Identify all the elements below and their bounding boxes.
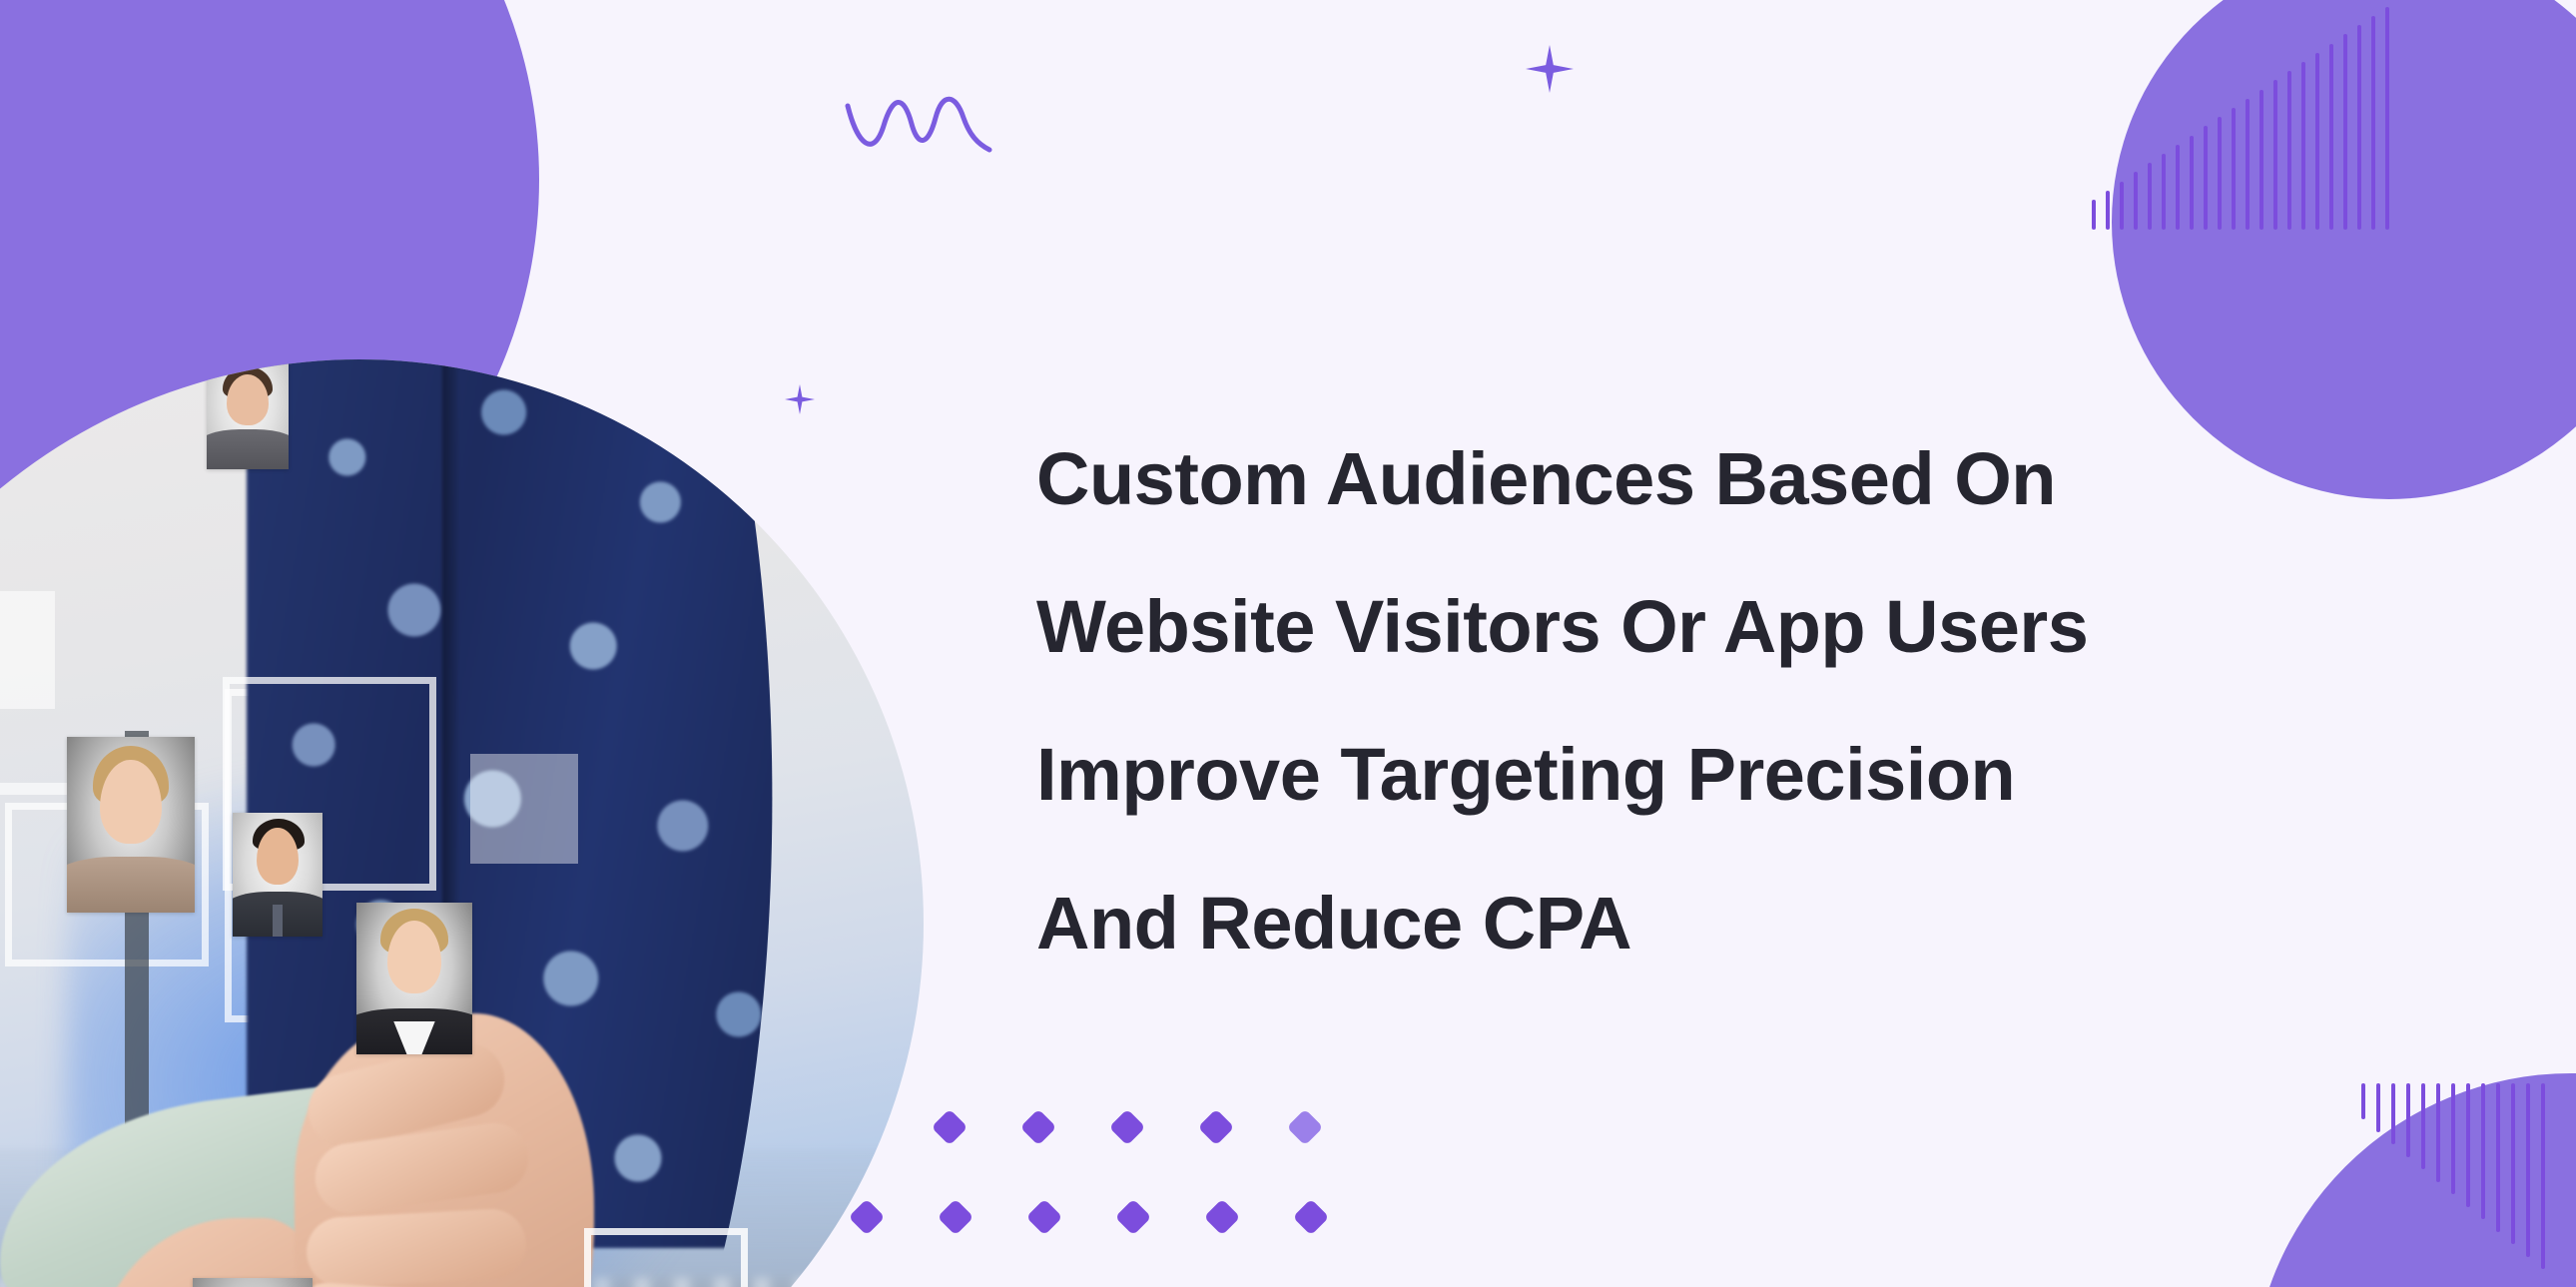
decor-stripe (2526, 1083, 2530, 1257)
decor-wave-squiggle-icon (844, 88, 993, 156)
portrait-thumb-woman-blonde-smiling (356, 903, 472, 1054)
decor-stripe (2466, 1083, 2470, 1207)
decor-diamond (1020, 1109, 1057, 1146)
headline-line-2: Website Visitors Or App Users (1036, 585, 2354, 669)
decor-stripe (2259, 90, 2263, 230)
decor-stripe (2232, 108, 2236, 230)
overlay-square-on-shirt (470, 754, 578, 864)
decor-sparkle-large-icon (1526, 45, 1574, 93)
overlay-frame-e (584, 1228, 748, 1287)
decor-stripe (2148, 163, 2152, 230)
decor-stripe (2106, 191, 2110, 230)
decor-stripe (2287, 71, 2291, 230)
decor-stripe (2421, 1083, 2425, 1169)
decor-stripe (2246, 99, 2250, 230)
decor-stripe (2343, 34, 2347, 230)
decor-stripes-bottom-right (2361, 1083, 2576, 1287)
portrait-thumb-woman-blonde (67, 737, 195, 913)
portrait-thumb-man-dark-suit (233, 813, 322, 937)
decor-diamond (1198, 1109, 1235, 1146)
decor-stripe (2176, 145, 2180, 230)
decor-diamond (932, 1109, 968, 1146)
decor-stripe (2315, 53, 2319, 230)
decor-stripe (2376, 1083, 2380, 1132)
decor-stripe (2496, 1083, 2500, 1232)
decor-stripe (2301, 62, 2305, 230)
decor-stripe (2092, 200, 2096, 230)
decor-stripe (2371, 16, 2375, 230)
decor-diamond (1293, 1199, 1330, 1236)
decor-stripe (2406, 1083, 2410, 1157)
decor-stripe (2273, 80, 2277, 230)
decor-stripe (2451, 1083, 2455, 1194)
decor-stripe (2511, 1083, 2515, 1244)
overlay-square-a (0, 591, 55, 709)
decor-stripes-top-right (2092, 0, 2411, 230)
decor-stripe (2218, 117, 2222, 230)
headline-line-4: And Reduce CPA (1036, 882, 2354, 965)
decor-diamond (1026, 1199, 1063, 1236)
decor-stripe (2204, 126, 2208, 230)
decor-diamond (1109, 1109, 1146, 1146)
page-title: Custom Audiences Based On Website Visito… (1036, 437, 2354, 965)
decor-stripe (2134, 172, 2138, 230)
decor-stripe (2329, 44, 2333, 230)
decor-stripe (2436, 1083, 2440, 1182)
decor-diamond-row-top (937, 1114, 1381, 1140)
headline-line-3: Improve Targeting Precision (1036, 733, 2354, 817)
headline-line-1: Custom Audiences Based On (1036, 437, 2354, 521)
decor-stripe (2391, 1083, 2395, 1144)
decor-diamond (1115, 1199, 1152, 1236)
hero-image-circle (0, 359, 924, 1287)
decor-stripe (2120, 182, 2124, 230)
decor-diamond-row-bottom (854, 1204, 1387, 1230)
decor-stripe (2385, 7, 2389, 230)
hero-banner: Custom Audiences Based On Website Visito… (0, 0, 2576, 1287)
decor-stripe (2162, 154, 2166, 230)
decor-diamond (938, 1199, 974, 1236)
photo-finger-3 (305, 1207, 527, 1287)
decor-stripe (2481, 1083, 2485, 1219)
portrait-thumb-man-grey-polo (207, 359, 289, 469)
decor-stripe (2357, 25, 2361, 230)
portrait-thumb-man-grey-hair (193, 1278, 313, 1287)
decor-diamond (1287, 1109, 1324, 1146)
decor-stripe (2190, 136, 2194, 230)
decor-stripe (2541, 1083, 2545, 1269)
decor-stripe (2361, 1083, 2365, 1119)
decor-diamond (1204, 1199, 1241, 1236)
